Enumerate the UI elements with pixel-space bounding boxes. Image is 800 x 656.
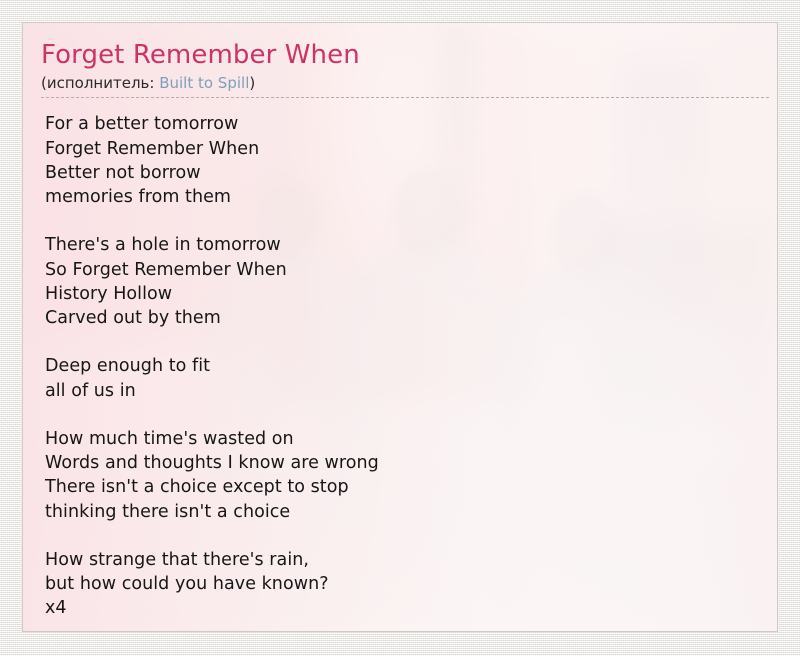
lyrics-card: Forget Remember When (исполнитель: Built… <box>22 22 778 632</box>
artist-suffix-label: ) <box>249 74 255 92</box>
artist-link[interactable]: Built to Spill <box>159 74 249 92</box>
page-title: Forget Remember When <box>41 41 761 70</box>
card-content: Forget Remember When (исполнитель: Built… <box>23 23 777 631</box>
artist-line: (исполнитель: Built to Spill) <box>41 74 761 93</box>
artist-prefix-label: (исполнитель: <box>41 74 159 92</box>
lyrics-text: For a better tomorrow Forget Remember Wh… <box>45 112 761 620</box>
title-divider <box>41 97 769 98</box>
